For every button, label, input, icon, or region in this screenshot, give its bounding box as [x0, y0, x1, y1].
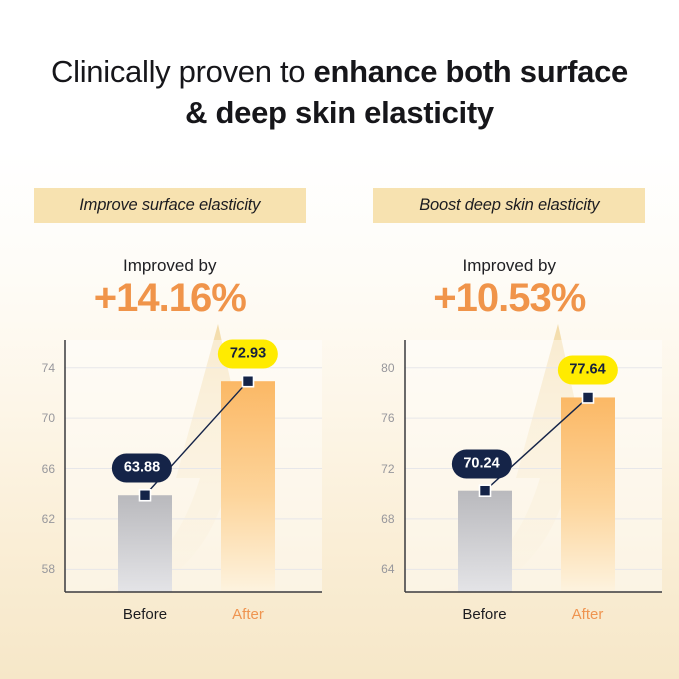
plot-background: [65, 340, 322, 592]
headline-plain: Clinically proven to: [51, 54, 313, 89]
data-marker-before: [140, 490, 151, 501]
panel-header-band-0: Improve surface elasticity: [34, 188, 306, 223]
value-pill-after: 77.64: [557, 356, 617, 385]
improved-by-label-0: Improved by: [0, 256, 340, 276]
panels-container: Improve surface elasticity Improved by +…: [0, 188, 679, 648]
y-tick-label-3: 68: [381, 512, 394, 526]
y-tick-label-4: 64: [381, 562, 394, 576]
bar-after: [561, 397, 615, 592]
plot-background: [405, 340, 662, 592]
value-pill-after: 72.93: [218, 340, 278, 369]
y-tick-label-4: 58: [42, 562, 55, 576]
y-tick-label-1: 76: [381, 411, 394, 425]
value-pill-before: 63.88: [112, 454, 172, 483]
bar-chart-surface: 747066625863.8872.93BeforeAfter: [0, 328, 340, 648]
y-tick-label-0: 80: [381, 361, 394, 375]
improved-by-label-1: Improved by: [340, 256, 679, 276]
improved-by-value-0: +14.16%: [0, 276, 340, 321]
category-label-after: After: [572, 606, 604, 623]
y-tick-label-2: 66: [42, 462, 55, 476]
y-tick-label-2: 72: [381, 462, 394, 476]
category-label-before: Before: [123, 606, 167, 623]
panel-header-label-1: Boost deep skin elasticity: [419, 196, 599, 215]
page-title: Clinically proven to enhance both surfac…: [0, 52, 679, 134]
panel-header-label-0: Improve surface elasticity: [79, 196, 260, 215]
y-tick-label-0: 74: [42, 361, 55, 375]
category-label-before: Before: [462, 606, 506, 623]
bar-before: [118, 495, 172, 592]
panel-header-band-1: Boost deep skin elasticity: [373, 188, 645, 223]
panel-deep-elasticity: Boost deep skin elasticity Improved by +…: [340, 188, 679, 648]
data-marker-after: [243, 376, 254, 387]
panel-surface-elasticity: Improve surface elasticity Improved by +…: [0, 188, 340, 648]
bar-after: [221, 381, 275, 592]
data-marker-after: [582, 392, 593, 403]
data-marker-before: [479, 485, 490, 496]
category-label-after: After: [232, 606, 264, 623]
bar-chart-deep: 807672686470.2477.64BeforeAfter: [340, 328, 679, 648]
chart-canvas-0: [0, 328, 340, 648]
improved-by-value-1: +10.53%: [340, 276, 679, 321]
bar-before: [458, 491, 512, 592]
y-tick-label-1: 70: [42, 411, 55, 425]
y-tick-label-3: 62: [42, 512, 55, 526]
chart-canvas-1: [340, 328, 679, 648]
value-pill-before: 70.24: [451, 449, 511, 478]
